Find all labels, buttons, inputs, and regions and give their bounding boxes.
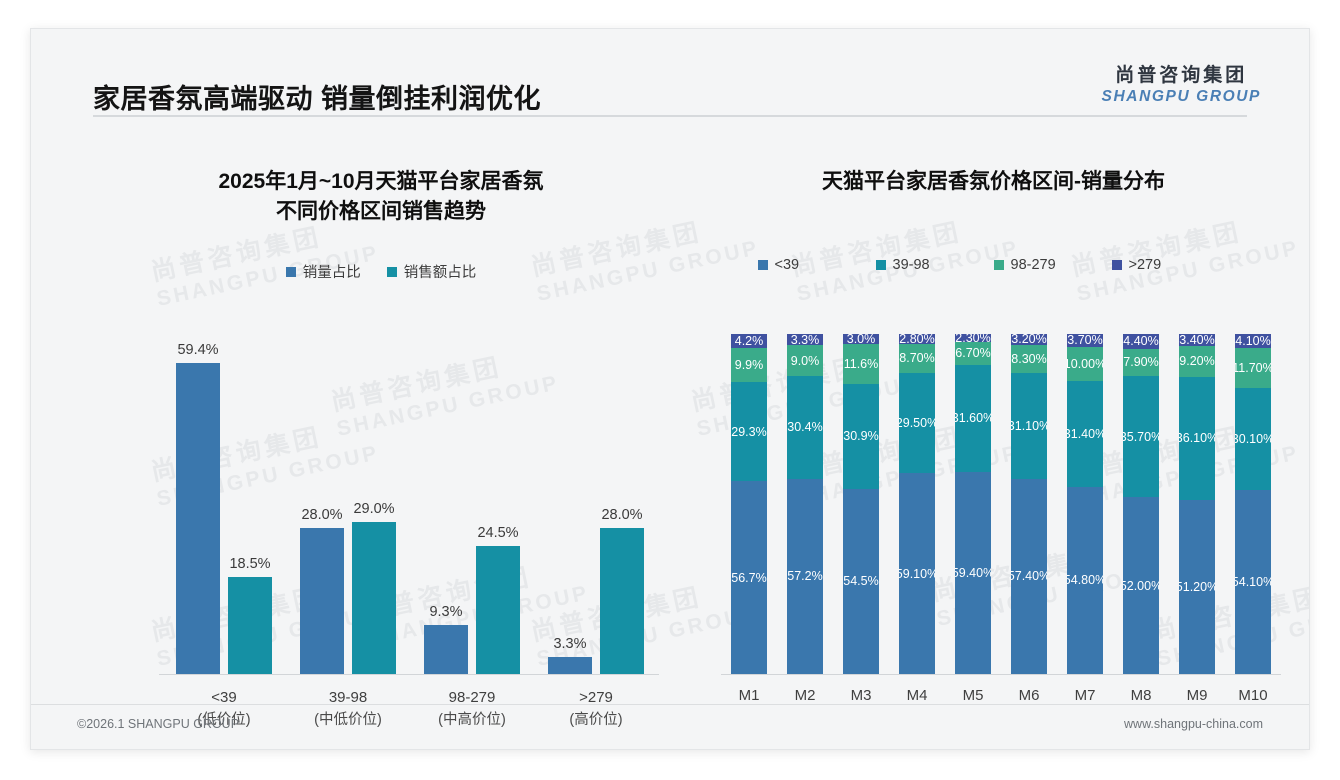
bar-amount[interactable] bbox=[600, 528, 644, 674]
legend-label: <39 bbox=[775, 257, 800, 273]
bar-volume[interactable] bbox=[548, 657, 592, 674]
stack-segment-39[interactable]: 56.7% bbox=[731, 481, 767, 674]
bar-amount[interactable] bbox=[352, 522, 396, 674]
slide-canvas: 家居香氛高端驱动 销量倒挂利润优化 尚普咨询集团 SHANGPU GROUP 尚… bbox=[30, 28, 1310, 750]
stack-segment-label: 54.10% bbox=[1235, 575, 1271, 589]
stack-segment-label: 51.20% bbox=[1179, 580, 1215, 594]
x-category-label: >279(高价位) bbox=[537, 687, 655, 731]
stack-segment-39-98[interactable]: 31.60% bbox=[955, 365, 991, 472]
x-category-label: 98-279(中高价位) bbox=[413, 687, 531, 731]
stack-segment-39[interactable]: 54.80% bbox=[1067, 487, 1103, 673]
stack-segment-39-98[interactable]: 29.3% bbox=[731, 382, 767, 482]
bar-volume[interactable] bbox=[300, 528, 344, 674]
bar-column[interactable]: 28.0% bbox=[300, 334, 344, 674]
footer-copyright: ©2026.1 SHANGPU GROUP bbox=[77, 717, 239, 731]
stack-segment-label: 54.80% bbox=[1067, 573, 1103, 587]
stacked-bar-column[interactable]: 4.10%11.70%30.10%54.10% bbox=[1235, 334, 1271, 674]
stack-segment-98-279[interactable]: 11.6% bbox=[843, 344, 879, 383]
bar-column[interactable]: 59.4% bbox=[176, 334, 220, 674]
left-chart-title: 2025年1月~10月天猫平台家居香氛 不同价格区间销售趋势 bbox=[71, 167, 691, 227]
stack-segment-label: 57.40% bbox=[1011, 569, 1047, 583]
legend-label: 销售额占比 bbox=[404, 261, 477, 282]
legend-swatch-icon bbox=[994, 260, 1004, 270]
stack-segment-label: 31.10% bbox=[1011, 419, 1047, 433]
stack-segment-279[interactable]: 3.40% bbox=[1179, 334, 1215, 346]
bar-column[interactable]: 18.5% bbox=[228, 334, 272, 674]
bar-amount[interactable] bbox=[228, 577, 272, 674]
stack-segment-label: 31.40% bbox=[1067, 427, 1103, 441]
left-chart-title-line2: 不同价格区间销售趋势 bbox=[276, 200, 486, 223]
stack-segment-98-279[interactable]: 11.70% bbox=[1235, 348, 1271, 388]
legend-label: 39-98 bbox=[893, 257, 930, 273]
stack-segment-label: 8.30% bbox=[1011, 352, 1046, 366]
stack-segment-label: 6.70% bbox=[955, 346, 990, 360]
x-month-label: M2 bbox=[779, 687, 831, 704]
stack-segment-label: 30.10% bbox=[1235, 432, 1271, 446]
stack-segment-39-98[interactable]: 30.9% bbox=[843, 384, 879, 489]
stack-segment-39-98[interactable]: 36.10% bbox=[1179, 377, 1215, 500]
legend-swatch-icon bbox=[876, 260, 886, 270]
stack-segment-label: 3.70% bbox=[1067, 334, 1102, 347]
legend-swatch-icon bbox=[1112, 260, 1122, 270]
header-divider bbox=[93, 115, 1247, 117]
legend-swatch-icon bbox=[387, 267, 397, 277]
stack-segment-label: 4.2% bbox=[735, 334, 764, 348]
stack-segment-label: 2.80% bbox=[899, 334, 934, 344]
legend-item-279[interactable]: >279 bbox=[1112, 257, 1230, 273]
stack-segment-39-98[interactable]: 35.70% bbox=[1123, 376, 1159, 497]
stack-segment-label: 11.70% bbox=[1235, 361, 1271, 375]
page-title: 家居香氛高端驱动 销量倒挂利润优化 bbox=[93, 77, 541, 116]
x-month-label: M9 bbox=[1171, 687, 1223, 704]
x-month-label: M6 bbox=[1003, 687, 1055, 704]
stack-segment-98-279[interactable]: 8.70% bbox=[899, 344, 935, 374]
bar-group: 28.0%29.0% bbox=[289, 334, 407, 674]
stack-segment-39[interactable]: 54.10% bbox=[1235, 490, 1271, 674]
stack-segment-39-98[interactable]: 30.10% bbox=[1235, 388, 1271, 490]
stacked-bar-column[interactable]: 4.2%9.9%29.3%56.7% bbox=[731, 334, 767, 674]
stack-segment-label: 3.40% bbox=[1179, 334, 1214, 346]
legend-item-39-98[interactable]: 39-98 bbox=[876, 257, 994, 273]
x-category-label: 39-98(中低价位) bbox=[289, 687, 407, 731]
left-chart-panel: 2025年1月~10月天猫平台家居香氛 不同价格区间销售趋势 销量占比 销售额占… bbox=[71, 139, 691, 719]
stack-segment-label: 9.9% bbox=[735, 358, 764, 372]
logo-chinese-text: 尚普咨询集团 bbox=[1102, 65, 1261, 87]
brand-logo: 尚普咨询集团 SHANGPU GROUP bbox=[1102, 65, 1261, 106]
stack-segment-279[interactable]: 4.40% bbox=[1123, 334, 1159, 349]
left-chart-title-line1: 2025年1月~10月天猫平台家居香氛 bbox=[218, 170, 543, 193]
stack-segment-label: 3.20% bbox=[1011, 334, 1046, 345]
stacked-bar-column[interactable]: 3.0%11.6%30.9%54.5% bbox=[843, 334, 879, 674]
bar-column[interactable]: 9.3% bbox=[424, 334, 468, 674]
legend-swatch-icon bbox=[758, 260, 768, 270]
legend-item-sales-volume[interactable]: 销量占比 bbox=[286, 261, 361, 282]
footer-divider bbox=[31, 704, 1309, 705]
stack-segment-label: 9.0% bbox=[791, 354, 820, 368]
bar-value-label: 18.5% bbox=[229, 556, 270, 572]
stack-segment-39[interactable]: 54.5% bbox=[843, 489, 879, 674]
stack-segment-39-98[interactable]: 31.40% bbox=[1067, 381, 1103, 488]
stack-segment-label: 4.10% bbox=[1235, 334, 1270, 348]
stacked-bar-column[interactable]: 4.40%7.90%35.70%52.00% bbox=[1123, 334, 1159, 674]
bar-column[interactable]: 28.0% bbox=[600, 334, 644, 674]
stack-segment-label: 29.3% bbox=[731, 425, 766, 439]
stack-segment-279[interactable]: 3.0% bbox=[843, 334, 879, 344]
stack-segment-label: 54.5% bbox=[843, 574, 878, 588]
x-month-label: M10 bbox=[1227, 687, 1279, 704]
stack-segment-label: 9.20% bbox=[1179, 354, 1214, 368]
stack-segment-label: 11.6% bbox=[844, 357, 879, 371]
stack-segment-39-98[interactable]: 29.50% bbox=[899, 373, 935, 473]
left-chart-x-axis bbox=[159, 674, 659, 675]
stack-segment-label: 31.60% bbox=[955, 411, 991, 425]
left-chart-legend: 销量占比 销售额占比 bbox=[71, 261, 691, 282]
stack-segment-98-279[interactable]: 9.9% bbox=[731, 348, 767, 382]
right-chart-title: 天猫平台家居香氛价格区间-销量分布 bbox=[696, 167, 1291, 197]
stack-segment-279[interactable]: 3.70% bbox=[1067, 334, 1103, 347]
bar-group: 3.3%28.0% bbox=[537, 334, 655, 674]
stack-segment-98-279[interactable]: 10.00% bbox=[1067, 347, 1103, 381]
stack-segment-39[interactable]: 57.40% bbox=[1011, 479, 1047, 674]
stack-segment-label: 35.70% bbox=[1123, 430, 1159, 444]
stack-segment-label: 2.30% bbox=[955, 334, 990, 342]
bar-value-label: 29.0% bbox=[353, 501, 394, 517]
legend-label: 98-279 bbox=[1011, 257, 1056, 273]
stack-segment-279[interactable]: 2.80% bbox=[899, 334, 935, 344]
legend-swatch-icon bbox=[286, 267, 296, 277]
stack-segment-98-279[interactable]: 9.20% bbox=[1179, 346, 1215, 377]
stack-segment-39[interactable]: 57.2% bbox=[787, 479, 823, 673]
x-month-label: M1 bbox=[723, 687, 775, 704]
x-category-sub: (高价位) bbox=[537, 710, 655, 732]
bar-group: 9.3%24.5% bbox=[413, 334, 531, 674]
right-chart-legend: <3939-9898-279>279 bbox=[696, 257, 1291, 273]
legend-item-39[interactable]: <39 bbox=[758, 257, 876, 273]
bar-volume[interactable] bbox=[176, 363, 220, 674]
stack-segment-label: 59.40% bbox=[955, 566, 991, 580]
stack-segment-label: 57.2% bbox=[787, 569, 822, 583]
stack-segment-label: 10.00% bbox=[1067, 357, 1103, 371]
stacked-bar-column[interactable]: 2.30%6.70%31.60%59.40% bbox=[955, 334, 991, 674]
stack-segment-label: 4.40% bbox=[1123, 334, 1158, 348]
slide-header: 家居香氛高端驱动 销量倒挂利润优化 尚普咨询集团 SHANGPU GROUP bbox=[31, 29, 1309, 115]
bar-value-label: 24.5% bbox=[477, 525, 518, 541]
stack-segment-279[interactable]: 3.20% bbox=[1011, 334, 1047, 345]
x-month-label: M5 bbox=[947, 687, 999, 704]
stack-segment-98-279[interactable]: 9.0% bbox=[787, 345, 823, 376]
stack-segment-39-98[interactable]: 30.4% bbox=[787, 376, 823, 479]
bar-value-label: 3.3% bbox=[553, 636, 586, 652]
legend-item-sales-amount[interactable]: 销售额占比 bbox=[387, 261, 477, 282]
stack-segment-label: 8.70% bbox=[899, 351, 934, 365]
bar-column[interactable]: 3.3% bbox=[548, 334, 592, 674]
bar-column[interactable]: 29.0% bbox=[352, 334, 396, 674]
legend-label: 销量占比 bbox=[303, 261, 361, 282]
bar-value-label: 9.3% bbox=[429, 604, 462, 620]
bar-value-label: 28.0% bbox=[601, 507, 642, 523]
x-month-label: M4 bbox=[891, 687, 943, 704]
x-month-label: M3 bbox=[835, 687, 887, 704]
stack-segment-39[interactable]: 59.40% bbox=[955, 472, 991, 674]
stack-segment-39[interactable]: 59.10% bbox=[899, 473, 935, 674]
stack-segment-279[interactable]: 2.30% bbox=[955, 334, 991, 342]
x-category-sub: (中高价位) bbox=[413, 710, 531, 732]
stack-segment-98-279[interactable]: 6.70% bbox=[955, 342, 991, 365]
bar-column[interactable]: 24.5% bbox=[476, 334, 520, 674]
stack-segment-39[interactable]: 52.00% bbox=[1123, 497, 1159, 674]
stacked-bar-column[interactable]: 3.40%9.20%36.10%51.20% bbox=[1179, 334, 1215, 674]
stacked-bar-column[interactable]: 3.70%10.00%31.40%54.80% bbox=[1067, 334, 1103, 674]
footer-website[interactable]: www.shangpu-china.com bbox=[1124, 717, 1263, 731]
stacked-bar-column[interactable]: 3.20%8.30%31.10%57.40% bbox=[1011, 334, 1047, 674]
stack-segment-279[interactable]: 4.2% bbox=[731, 334, 767, 348]
left-chart-plot-area: 59.4%18.5%28.0%29.0%9.3%24.5%3.3%28.0% bbox=[159, 334, 659, 674]
stacked-bar-column[interactable]: 3.3%9.0%30.4%57.2% bbox=[787, 334, 823, 674]
stack-segment-label: 59.10% bbox=[899, 567, 935, 581]
stack-segment-label: 36.10% bbox=[1179, 431, 1215, 445]
stack-segment-39-98[interactable]: 31.10% bbox=[1011, 373, 1047, 479]
stack-segment-98-279[interactable]: 8.30% bbox=[1011, 345, 1047, 373]
bar-volume[interactable] bbox=[424, 625, 468, 674]
legend-item-98-279[interactable]: 98-279 bbox=[994, 257, 1112, 273]
stack-segment-98-279[interactable]: 7.90% bbox=[1123, 349, 1159, 376]
stack-segment-label: 30.4% bbox=[787, 420, 822, 434]
bar-value-label: 59.4% bbox=[177, 342, 218, 358]
x-month-label: M7 bbox=[1059, 687, 1111, 704]
bar-amount[interactable] bbox=[476, 546, 520, 674]
stack-segment-label: 3.3% bbox=[791, 334, 820, 345]
stack-segment-39[interactable]: 51.20% bbox=[1179, 500, 1215, 674]
stack-segment-label: 52.00% bbox=[1123, 579, 1159, 593]
x-month-label: M8 bbox=[1115, 687, 1167, 704]
logo-english-text: SHANGPU GROUP bbox=[1102, 87, 1261, 106]
x-category-sub: (中低价位) bbox=[289, 710, 407, 732]
stack-segment-label: 56.7% bbox=[731, 571, 766, 585]
stack-segment-279[interactable]: 4.10% bbox=[1235, 334, 1271, 348]
right-chart-panel: 天猫平台家居香氛价格区间-销量分布 <3939-9898-279>279 4.2… bbox=[696, 139, 1291, 719]
right-chart-plot-area: 4.2%9.9%29.3%56.7%3.3%9.0%30.4%57.2%3.0%… bbox=[721, 334, 1281, 674]
stack-segment-label: 30.9% bbox=[843, 429, 878, 443]
stack-segment-label: 29.50% bbox=[899, 416, 935, 430]
stack-segment-279[interactable]: 3.3% bbox=[787, 334, 823, 345]
stack-segment-label: 3.0% bbox=[847, 334, 876, 344]
legend-label: >279 bbox=[1129, 257, 1162, 273]
stacked-bar-column[interactable]: 2.80%8.70%29.50%59.10% bbox=[899, 334, 935, 674]
right-chart-x-axis bbox=[721, 674, 1281, 675]
bar-group: 59.4%18.5% bbox=[165, 334, 283, 674]
bar-value-label: 28.0% bbox=[301, 507, 342, 523]
stack-segment-label: 7.90% bbox=[1123, 355, 1158, 369]
